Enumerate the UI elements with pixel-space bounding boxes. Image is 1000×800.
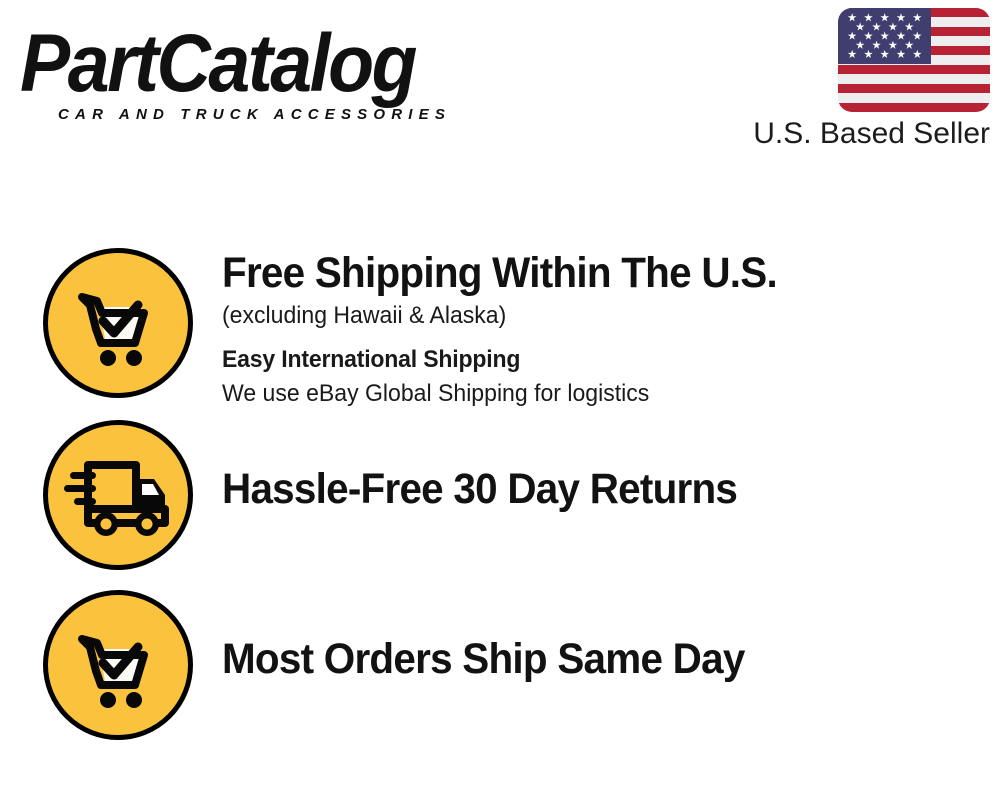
- flag-star: [888, 22, 897, 31]
- flag-star-row: [844, 50, 925, 59]
- feature-text-block: Free Shipping Within The U.S. (excluding…: [193, 248, 1000, 410]
- flag-star: [896, 50, 905, 59]
- flag-star: [848, 13, 857, 22]
- flag-stripe: [838, 93, 990, 102]
- flag-star: [872, 22, 881, 31]
- flag-star: [864, 50, 873, 59]
- brand-tagline: CAR AND TRUCK ACCESSORIES: [58, 106, 451, 123]
- brand-wordmark: PartCatalog: [20, 22, 485, 106]
- us-based-seller-badge: U.S. Based Seller: [730, 8, 990, 152]
- feature-row: Hassle-Free 30 Day Returns: [0, 420, 1000, 590]
- flag-stripe: [838, 74, 990, 83]
- flag-star: [856, 41, 865, 50]
- shopping-cart-check-icon: [43, 590, 193, 740]
- flag-star: [913, 13, 922, 22]
- flag-canton: [838, 8, 931, 64]
- flag-star-row: [844, 22, 925, 31]
- feature-text-block: Most Orders Ship Same Day: [193, 590, 1000, 684]
- feature-row: Most Orders Ship Same Day: [0, 590, 1000, 760]
- flag-star-row: [844, 41, 925, 50]
- feature-headline: Free Shipping Within The U.S.: [222, 248, 953, 298]
- flag-star: [905, 41, 914, 50]
- flag-star: [880, 31, 889, 40]
- feature-text-block: Hassle-Free 30 Day Returns: [193, 420, 1000, 514]
- flag-stripe: [838, 65, 990, 74]
- feature-headline: Most Orders Ship Same Day: [222, 634, 953, 684]
- flag-star: [864, 31, 873, 40]
- flag-star: [888, 41, 897, 50]
- flag-star: [856, 22, 865, 31]
- flag-stripe: [838, 103, 990, 112]
- flag-star-row: [844, 13, 925, 22]
- feature-subline: (excluding Hawaii & Alaska): [222, 299, 969, 332]
- shopping-cart-check-icon: [43, 248, 193, 398]
- flag-star: [872, 41, 881, 50]
- flag-star: [880, 13, 889, 22]
- shipping-info-banner: PartCatalog CAR AND TRUCK ACCESSORIES: [0, 0, 1000, 800]
- flag-star: [848, 50, 857, 59]
- flag-star-row: [844, 31, 925, 40]
- flag-star: [864, 13, 873, 22]
- us-flag-icon: [838, 8, 990, 112]
- flag-star: [896, 13, 905, 22]
- feature-row: Free Shipping Within The U.S. (excluding…: [0, 248, 1000, 418]
- feature-headline: Hassle-Free 30 Day Returns: [222, 464, 953, 514]
- feature-subline: We use eBay Global Shipping for logistic…: [222, 377, 969, 410]
- brand-logo: PartCatalog CAR AND TRUCK ACCESSORIES: [20, 22, 490, 117]
- feature-subline-bold: Easy International Shipping: [222, 343, 969, 376]
- flag-star: [848, 31, 857, 40]
- us-based-seller-label: U.S. Based Seller: [730, 116, 990, 152]
- flag-star: [913, 31, 922, 40]
- flag-star: [913, 50, 922, 59]
- flag-star: [880, 50, 889, 59]
- flag-stripe: [838, 84, 990, 93]
- banner-header: PartCatalog CAR AND TRUCK ACCESSORIES: [0, 0, 1000, 180]
- flag-star: [896, 31, 905, 40]
- delivery-truck-icon: [43, 420, 193, 570]
- flag-star: [905, 22, 914, 31]
